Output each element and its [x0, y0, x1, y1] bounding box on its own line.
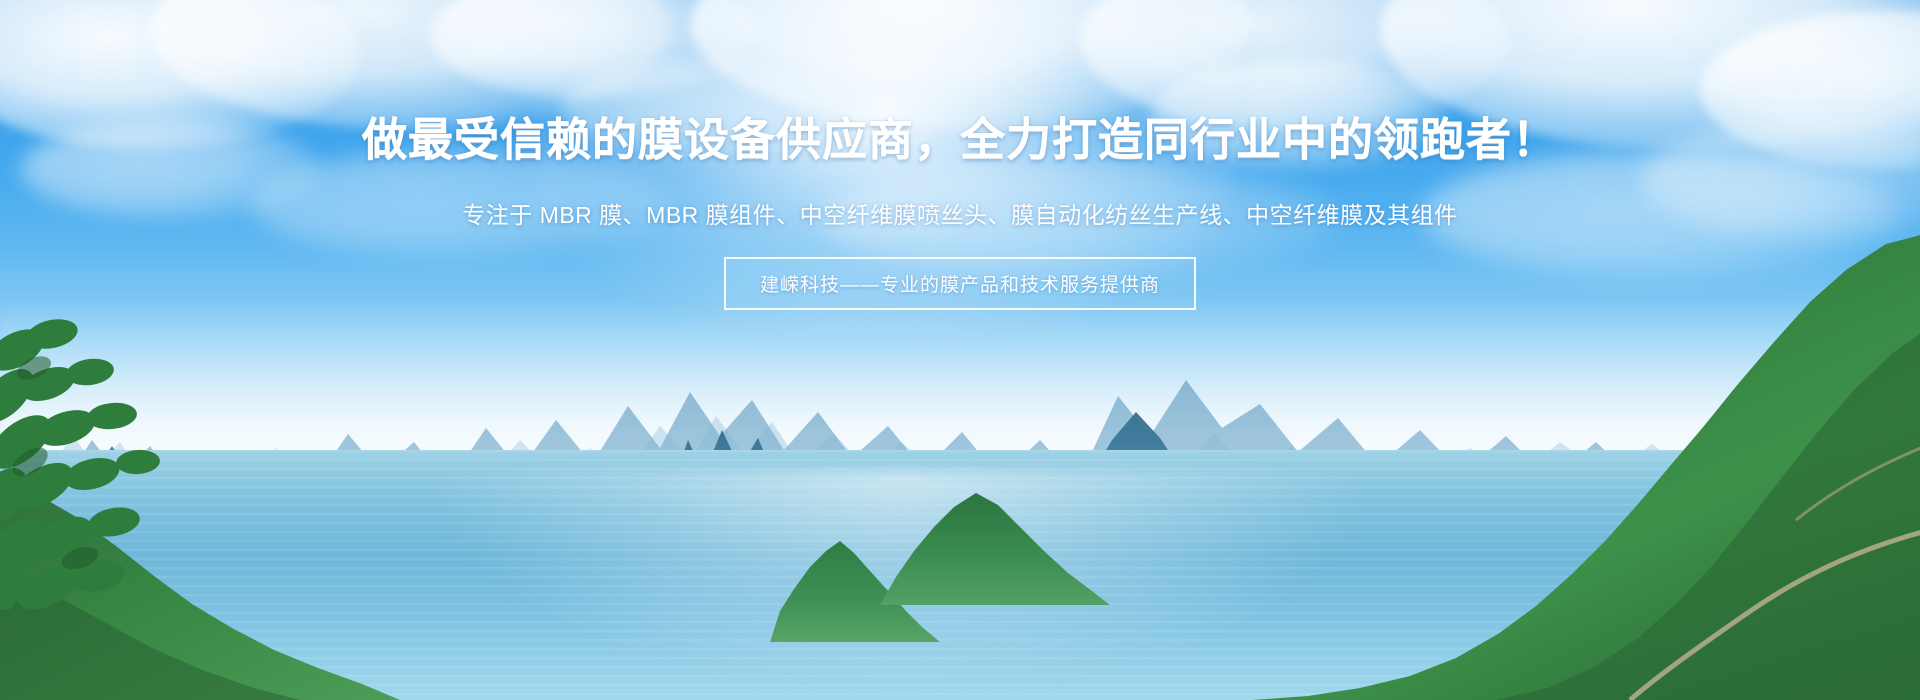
foreground-hill-right — [1160, 230, 1920, 700]
banner-tagline-box: 建嵘科技——专业的膜产品和技术服务提供商 — [724, 257, 1196, 310]
hero-banner: 做最受信赖的膜设备供应商，全力打造同行业中的领跑者！ 专注于 MBR 膜、MBR… — [0, 0, 1920, 700]
foliage-branch — [0, 310, 250, 610]
lake-islet-secondary — [880, 485, 1110, 605]
banner-headline: 做最受信赖的膜设备供应商，全力打造同行业中的领跑者！ — [362, 103, 1558, 168]
banner-subtitle: 专注于 MBR 膜、MBR 膜组件、中空纤维膜喷丝头、膜自动化纺丝生产线、中空纤… — [462, 196, 1457, 230]
